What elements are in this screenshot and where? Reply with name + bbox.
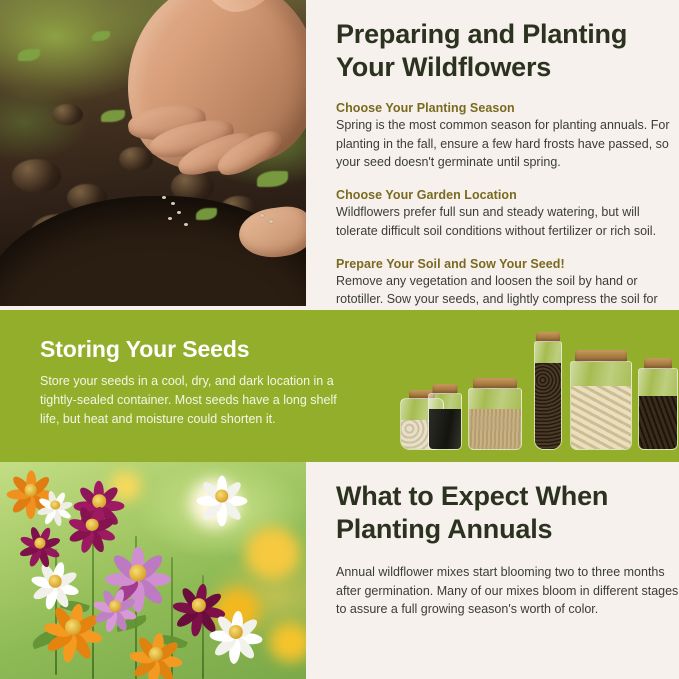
jar-black-seeds xyxy=(428,384,462,450)
what-to-expect-title: What to Expect When Planting Annuals xyxy=(336,480,679,547)
section-preparing-planting: Preparing and Planting Your Wildflowers … xyxy=(0,0,679,310)
section-storing-text: Storing Your Seeds Store your seeds in a… xyxy=(40,336,340,428)
body-garden-location: Wildflowers prefer full sun and steady w… xyxy=(336,203,679,241)
subheading-garden-location: Choose Your Garden Location xyxy=(336,188,679,202)
jar-sunflower-seeds xyxy=(638,358,678,450)
section-storing-seeds: Storing Your Seeds Store your seeds in a… xyxy=(0,310,679,462)
flower-pink-small xyxy=(92,584,138,630)
flower-white-tiny xyxy=(37,488,74,523)
what-to-expect-body: Annual wildflower mixes start blooming t… xyxy=(336,563,679,619)
section-expect-text: What to Expect When Planting Annuals Ann… xyxy=(336,462,679,619)
subheading-prepare-soil: Prepare Your Soil and Sow Your Seed! xyxy=(336,257,679,271)
image-seed-jars xyxy=(386,328,662,450)
page-title: Preparing and Planting Your Wildflowers xyxy=(336,18,679,85)
image-cosmos-wildflowers xyxy=(0,462,306,679)
jar-tall-dark-seeds xyxy=(534,332,562,450)
section-preparing-text: Preparing and Planting Your Wildflowers … xyxy=(336,0,679,310)
flower-orange-3 xyxy=(129,627,184,679)
subheading-planting-season: Choose Your Planting Season xyxy=(336,101,679,115)
body-planting-season: Spring is the most common season for pla… xyxy=(336,116,679,172)
jar-pale-flat-seeds xyxy=(570,350,632,450)
flower-white-3 xyxy=(208,605,263,659)
storing-seeds-body: Store your seeds in a cool, dry, and dar… xyxy=(40,372,340,428)
storing-seeds-title: Storing Your Seeds xyxy=(40,336,340,363)
infographic-page: Preparing and Planting Your Wildflowers … xyxy=(0,0,679,679)
image-hands-sowing-seeds xyxy=(0,0,306,306)
forearm xyxy=(195,0,301,26)
flower-magenta-small xyxy=(18,523,61,564)
flower-white xyxy=(196,471,248,521)
jar-tan-grain xyxy=(468,378,522,450)
section-what-to-expect: What to Expect When Planting Annuals Ann… xyxy=(0,462,679,679)
